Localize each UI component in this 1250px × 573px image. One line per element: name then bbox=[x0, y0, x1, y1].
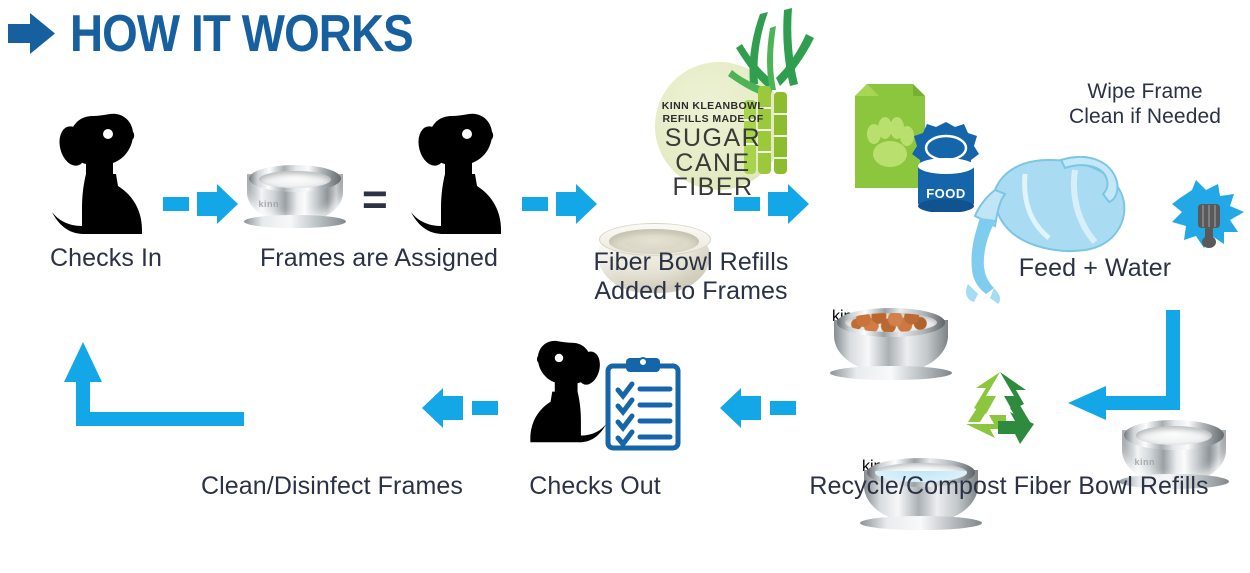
dashed-left-arrow-icon bbox=[716, 386, 796, 430]
caption-fiber-bowl-refills: Fiber Bowl Refills Added to Frames bbox=[556, 248, 826, 307]
corner-left-up-arrow-icon bbox=[48, 332, 248, 440]
dashed-right-arrow-icon bbox=[734, 182, 810, 226]
caption-recycle-compost: Recycle/Compost Fiber Bowl Refills bbox=[770, 472, 1248, 501]
dashed-right-arrow-icon bbox=[163, 182, 239, 226]
right-arrow-icon bbox=[8, 12, 56, 56]
equals-symbol: = bbox=[362, 178, 388, 222]
badge-line-1: KINN KLEANBOWL REFILLS MADE OF bbox=[660, 100, 766, 126]
recycle-icon bbox=[960, 368, 1040, 448]
frame-brand-label: kinn bbox=[1134, 457, 1155, 467]
caption-frames-assigned: Frames are Assigned bbox=[243, 244, 515, 273]
badge-line-1-text: KINN KLEANBOWL bbox=[662, 100, 764, 112]
page-title: HOW IT WORKS bbox=[70, 8, 413, 60]
page-title-row: HOW IT WORKS bbox=[8, 8, 460, 60]
clipboard-checklist-icon bbox=[604, 356, 682, 452]
chrome-frame-icon: kinn bbox=[247, 165, 343, 227]
chrome-bowl-with-food-icon: kinn bbox=[832, 308, 950, 380]
caption-clean-disinfect: Clean/Disinfect Frames bbox=[152, 472, 512, 501]
wipe-hand-icon bbox=[1168, 178, 1248, 250]
badge-word-sugar: SUGAR bbox=[655, 126, 771, 151]
caption-wipe-frame: Wipe Frame Clean if Needed bbox=[1040, 80, 1250, 129]
dog-sitting-icon bbox=[38, 108, 178, 236]
dog-sitting-icon bbox=[500, 334, 618, 446]
dog-sitting-icon bbox=[397, 108, 537, 236]
caption-feed-water: Feed + Water bbox=[960, 254, 1230, 283]
badge-word-cane: CANE bbox=[655, 151, 771, 176]
caption-checks-in: Checks In bbox=[0, 244, 212, 273]
dashed-right-arrow-icon bbox=[522, 182, 598, 226]
infographic-canvas: HOW IT WORKS Checks In kinn = bbox=[0, 0, 1250, 573]
frame-brand-label: kinn bbox=[259, 199, 280, 209]
dashed-left-arrow-icon bbox=[418, 386, 498, 430]
corner-down-left-arrow-icon bbox=[1060, 310, 1190, 430]
